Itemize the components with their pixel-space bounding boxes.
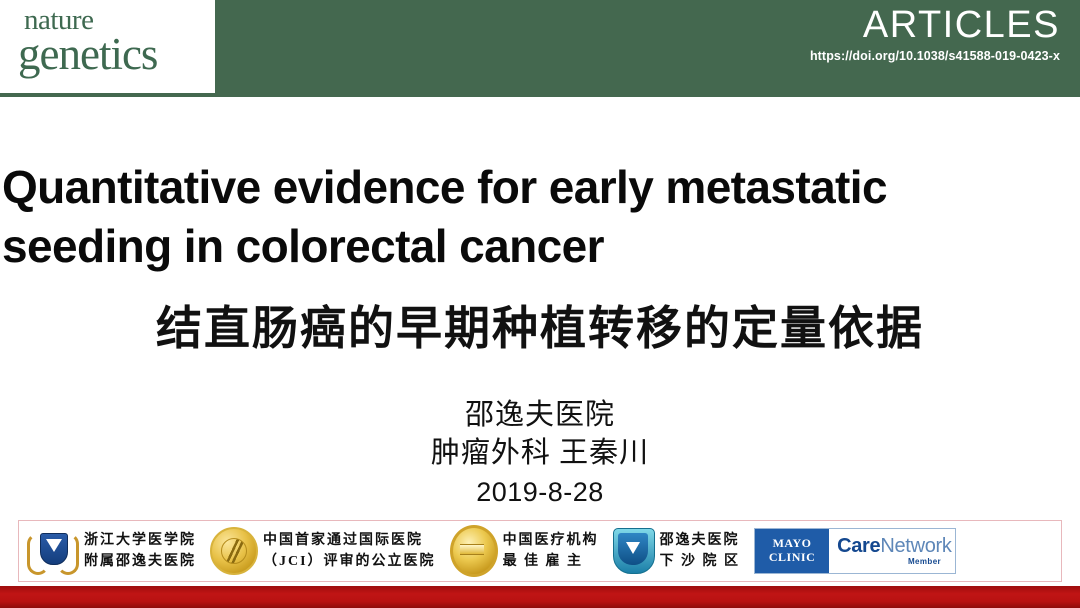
mayo-clinic-line1: MAYO — [773, 537, 812, 551]
footer-logo-best-employer-line2: 最 佳 雇 主 — [503, 551, 599, 572]
care-network-title: CareNetwork — [837, 536, 955, 556]
footer-logo-xiasha-line2: 下 沙 院 区 — [660, 551, 741, 572]
footer-logo-best-employer-text: 中国医疗机构 最 佳 雇 主 — [503, 530, 599, 572]
footer-logo-zju-shaw: 浙江大学医学院 附属邵逸夫医院 — [27, 525, 196, 577]
footer-logo-xiasha-campus: 邵逸夫医院 下 沙 院 区 — [613, 525, 741, 577]
paper-title-english: Quantitative evidence for early metastat… — [2, 158, 982, 276]
nature-genetics-logo: nature genetics — [0, 0, 215, 95]
nature-genetics-logo-text: nature genetics — [18, 6, 208, 77]
footer-logo-strip: 浙江大学医学院 附属邵逸夫医院 中国首家通过国际医院 （JCI）评审的公立医院 … — [18, 520, 1062, 582]
blue-shield-icon — [40, 533, 68, 565]
footer-logo-xiasha-line1: 邵逸夫医院 — [660, 530, 741, 551]
paper-title-chinese: 结直肠癌的早期种植转移的定量依据 — [0, 292, 1080, 358]
footer-logo-zju-shaw-text: 浙江大学医学院 附属邵逸夫医院 — [84, 530, 196, 572]
mayo-clinic-care-network-badge: MAYO CLINIC CareNetwork Member — [754, 528, 956, 574]
footer-logo-best-employer-line1: 中国医疗机构 — [503, 530, 599, 551]
articles-header-block: ARTICLES https://doi.org/10.1038/s41588-… — [810, 6, 1060, 63]
presenter-block: 邵逸夫医院 肿瘤外科 王秦川 2019-8-28 — [0, 396, 1080, 510]
department-and-presenter: 肿瘤外科 王秦川 — [0, 434, 1080, 472]
xiasha-campus-shield-icon — [613, 528, 655, 574]
network-word: Network — [880, 535, 951, 557]
footer-logo-best-employer: 中国医疗机构 最 佳 雇 主 — [450, 525, 599, 577]
footer-logo-zju-shaw-line2: 附属邵逸夫医院 — [84, 551, 196, 572]
journal-header-band: nature genetics ARTICLES https://doi.org… — [0, 0, 1080, 97]
footer-logo-jci: 中国首家通过国际医院 （JCI）评审的公立医院 — [210, 525, 436, 577]
hospital-name: 邵逸夫医院 — [0, 396, 1080, 434]
care-network-wordmark: CareNetwork Member — [829, 529, 955, 573]
doi-link[interactable]: https://doi.org/10.1038/s41588-019-0423-… — [810, 49, 1060, 63]
care-word: Care — [837, 535, 880, 557]
footer-logo-jci-line2: （JCI）评审的公立医院 — [263, 551, 436, 572]
footer-red-bar — [0, 586, 1080, 608]
best-employer-gold-medal-icon — [450, 525, 498, 577]
zju-shaw-hospital-crest-icon — [27, 528, 79, 574]
footer-logo-xiasha-campus-text: 邵逸夫医院 下 沙 院 区 — [660, 530, 741, 572]
presentation-date: 2019-8-28 — [0, 475, 1080, 511]
jci-gold-medal-icon — [210, 527, 258, 575]
mayo-clinic-wordmark: MAYO CLINIC — [755, 529, 829, 573]
member-label: Member — [837, 557, 955, 566]
section-label-articles: ARTICLES — [810, 6, 1060, 46]
footer-logo-zju-shaw-line1: 浙江大学医学院 — [84, 530, 196, 551]
mayo-clinic-line2: CLINIC — [769, 551, 815, 565]
footer-logo-jci-text: 中国首家通过国际医院 （JCI）评审的公立医院 — [263, 530, 436, 572]
logo-word-genetics: genetics — [18, 32, 208, 77]
footer-logo-jci-line1: 中国首家通过国际医院 — [263, 530, 436, 551]
